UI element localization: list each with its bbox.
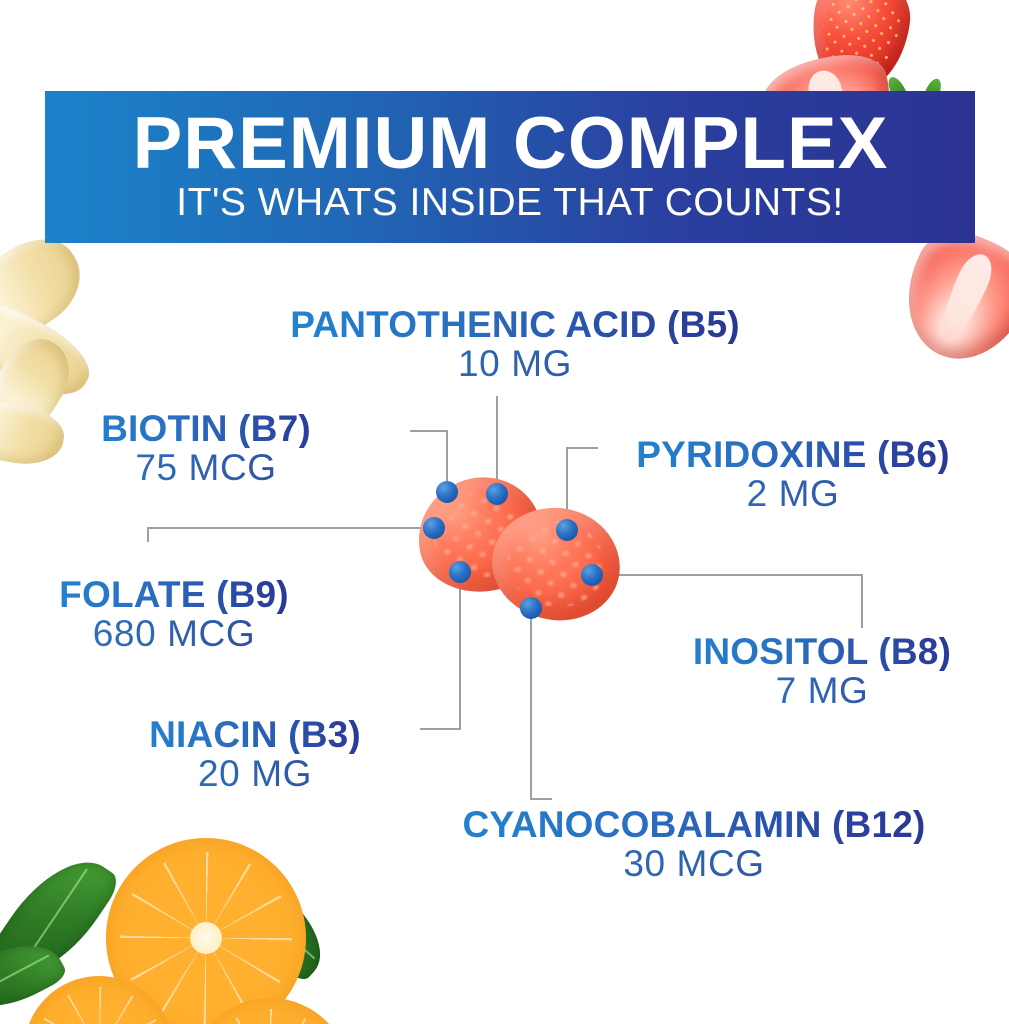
- nutrient-dose-b5: 10 MG: [215, 344, 815, 383]
- nutrient-name-b7: BIOTIN (B7): [36, 410, 376, 448]
- nutrient-dose-b6: 2 MG: [578, 474, 1008, 513]
- nutrient-dose-b3: 20 MG: [100, 754, 410, 793]
- banner-title: PREMIUM COMPLEX: [132, 110, 888, 179]
- connector-line-b12: [531, 612, 552, 799]
- nutrient-name-b5: PANTOTHENIC ACID (B5): [215, 306, 815, 344]
- callout-dot-b3[interactable]: [449, 561, 471, 583]
- callout-label-b5: PANTOTHENIC ACID (B5) 10 MG: [215, 306, 815, 383]
- nutrient-name-b12: CYANOCOBALAMIN (B12): [380, 806, 1008, 844]
- callout-label-b8: INOSITOL (B8) 7 MG: [636, 633, 1008, 710]
- callout-dot-b7[interactable]: [436, 481, 458, 503]
- callout-label-b3: NIACIN (B3) 20 MG: [100, 716, 410, 793]
- nutrient-dose-b12: 30 MCG: [380, 844, 1008, 883]
- callout-dot-b5[interactable]: [486, 483, 508, 505]
- connector-line-b9: [148, 528, 434, 542]
- callout-label-b12: CYANOCOBALAMIN (B12) 30 MCG: [380, 806, 1008, 883]
- callout-label-b9: FOLATE (B9) 680 MCG: [14, 576, 334, 653]
- banner-subtitle: IT'S WHATS INSIDE THAT COUNTS!: [176, 183, 843, 224]
- callout-dot-b9[interactable]: [423, 517, 445, 539]
- callout-label-b7: BIOTIN (B7) 75 MCG: [36, 410, 376, 487]
- connector-line-b3: [420, 578, 460, 729]
- callout-dot-b12[interactable]: [520, 597, 542, 619]
- nutrient-dose-b7: 75 MCG: [36, 448, 376, 487]
- nutrient-name-b3: NIACIN (B3): [100, 716, 410, 754]
- connector-line-b8: [592, 575, 862, 628]
- header-banner: PREMIUM COMPLEX IT'S WHATS INSIDE THAT C…: [45, 91, 975, 243]
- nutrient-dose-b8: 7 MG: [636, 671, 1008, 710]
- callout-dot-b8[interactable]: [581, 564, 603, 586]
- nutrient-dose-b9: 680 MCG: [14, 614, 334, 653]
- infographic-poster: PREMIUM COMPLEX IT'S WHATS INSIDE THAT C…: [0, 0, 1009, 1024]
- callout-label-b6: PYRIDOXINE (B6) 2 MG: [578, 436, 1008, 513]
- nutrient-name-b9: FOLATE (B9): [14, 576, 334, 614]
- nutrient-name-b8: INOSITOL (B8): [636, 633, 1008, 671]
- callout-dot-b6[interactable]: [556, 519, 578, 541]
- nutrient-name-b6: PYRIDOXINE (B6): [578, 436, 1008, 474]
